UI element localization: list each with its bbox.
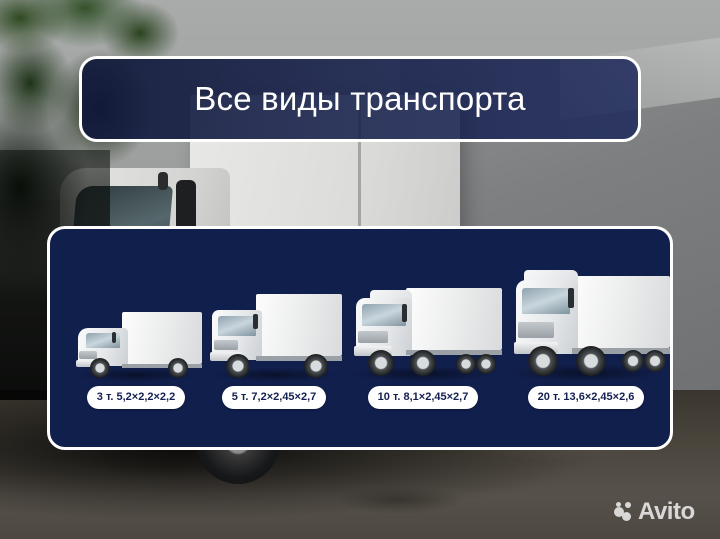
avito-watermark: Avito <box>614 500 695 524</box>
truck-spec-pill-2: 5 т. 7,2×2,45×2,7 <box>222 386 327 409</box>
truck-front-wheel <box>368 350 394 376</box>
truck-chassis <box>256 356 342 361</box>
truck-item-1: 3 т. 5,2×2,2×2,2 <box>68 229 204 447</box>
truck-cargo-box <box>256 294 342 356</box>
truck-mirror <box>568 288 574 308</box>
truck-cargo-box <box>122 312 202 364</box>
trailer-wheel-2 <box>644 350 666 372</box>
title-banner: Все виды транспорта <box>79 56 641 142</box>
truck-drive-wheel <box>576 346 606 376</box>
mercedes-actros-illustration <box>502 262 670 380</box>
truck-mirror <box>112 332 116 343</box>
truck-front-wheel <box>90 358 110 378</box>
trailer-wheel-2 <box>476 354 496 374</box>
truck-list: 3 т. 5,2×2,2×2,2 5 т. 7,2×2,45×2,7 <box>50 229 670 447</box>
transport-types-panel: 3 т. 5,2×2,2×2,2 5 т. 7,2×2,45×2,7 <box>47 226 673 450</box>
trailer-body <box>406 288 502 350</box>
trailer-body <box>572 276 670 348</box>
trailer-wheel-1 <box>622 350 644 372</box>
truck-mirror <box>402 304 407 322</box>
truck-grille <box>214 340 238 350</box>
avito-dot-small-top <box>625 502 631 508</box>
truck-grille <box>79 351 97 359</box>
truck-front-wheel <box>226 354 250 378</box>
truck-item-4: 20 т. 13,6×2,45×2,6 <box>502 229 670 447</box>
truck-windshield <box>218 316 256 336</box>
maz-semi-trailer-illustration <box>344 276 502 380</box>
gazelle-box-truck-illustration <box>68 302 204 380</box>
avito-dot-tiny <box>616 502 621 507</box>
truck-item-3: 10 т. 8,1×2,45×2,7 <box>344 229 502 447</box>
truck-chassis <box>122 364 202 368</box>
truck-rear-wheel <box>168 358 188 378</box>
truck-windshield <box>362 304 406 326</box>
page-title: Все виды транспорта <box>194 80 525 118</box>
truck-grille <box>518 322 554 338</box>
truck-front-wheel <box>528 346 558 376</box>
trailer-wheel-1 <box>456 354 476 374</box>
avito-dots-icon <box>614 502 634 522</box>
truck-spec-pill-1: 3 т. 5,2×2,2×2,2 <box>87 386 185 409</box>
truck-spec-pill-3: 10 т. 8,1×2,45×2,7 <box>368 386 479 409</box>
truck-windshield <box>522 288 570 314</box>
screenshot-canvas: Все виды транспорта 3 т. 5,2×2,2×2 <box>0 0 720 539</box>
truck-drive-wheel <box>410 350 436 376</box>
medium-box-truck-illustration <box>204 288 344 380</box>
avito-wordmark: Avito <box>638 500 695 524</box>
avito-dot-medium <box>622 512 631 521</box>
truck-rear-wheel <box>304 354 328 378</box>
truck-spec-pill-4: 20 т. 13,6×2,45×2,6 <box>528 386 645 409</box>
truck-item-2: 5 т. 7,2×2,45×2,7 <box>204 229 344 447</box>
truck-mirror <box>253 314 258 329</box>
truck-grille <box>358 331 388 343</box>
